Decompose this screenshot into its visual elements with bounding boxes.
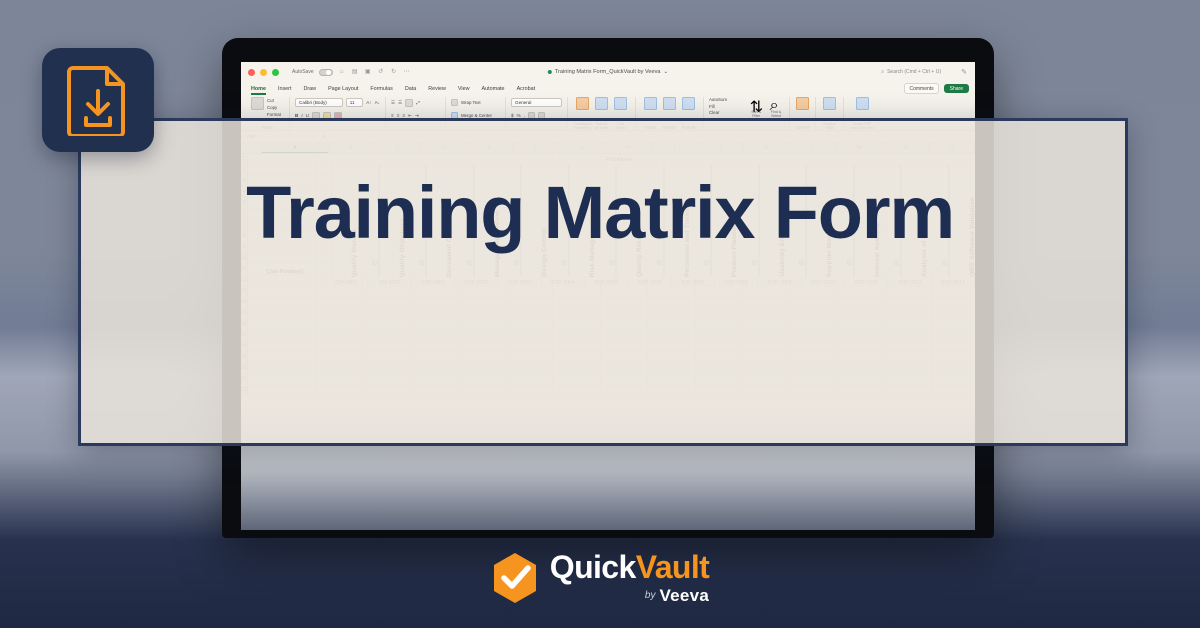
sort-filter-icon[interactable]: ⇅ (750, 97, 763, 110)
format-cells-icon[interactable] (682, 97, 695, 110)
autosave-label: AutoSave (292, 69, 314, 75)
menu-right-actions: Comments Share (904, 83, 969, 94)
excel-title-bar: AutoSave ⌂ ▤ ▣ ↺ ↻ ⋯ Training Matrix For… (241, 62, 975, 82)
tab-page-layout[interactable]: Page Layout (328, 86, 358, 92)
format-as-table-icon[interactable] (595, 97, 608, 110)
search-icon: ⌕ (881, 69, 884, 75)
tab-home[interactable]: Home (251, 86, 266, 92)
logo-word-quick: Quick (550, 549, 636, 585)
paste-icon[interactable] (251, 97, 264, 110)
print-icon[interactable]: ▣ (364, 68, 372, 76)
save-icon[interactable]: ▤ (351, 68, 359, 76)
search-placeholder: Search (Cmd + Ctrl + U) (887, 69, 941, 75)
tab-data[interactable]: Data (405, 86, 416, 92)
tab-review[interactable]: Review (428, 86, 446, 92)
copy-label[interactable]: Copy (267, 105, 281, 110)
share-button[interactable]: Share (944, 84, 969, 94)
orientation-icon[interactable]: ⤢ (416, 100, 420, 105)
headline-panel (78, 118, 1128, 446)
logo-brand-veeva: Veeva (659, 587, 709, 604)
more-icon[interactable]: ⋯ (403, 68, 411, 76)
insert-cells-icon[interactable] (644, 97, 657, 110)
decrease-font-size-icon[interactable]: A↓ (375, 100, 380, 105)
document-title: Training Matrix Form_QuickVault by Veeva… (548, 69, 668, 75)
number-format-select[interactable]: General (511, 98, 562, 107)
page-title: Training Matrix Form (0, 176, 1200, 250)
align-bottom-icon[interactable] (405, 99, 413, 107)
home-icon[interactable]: ⌂ (338, 68, 346, 76)
ribbon-display-icon[interactable]: ✎ (961, 68, 967, 76)
undo-icon[interactable]: ↺ (377, 68, 385, 76)
document-download-icon[interactable] (42, 48, 154, 152)
logo-wordmark: QuickVault by Veeva (550, 551, 709, 604)
autosave-toggle[interactable] (319, 69, 333, 76)
document-title-text: Training Matrix Form_QuickVault by Veeva (555, 69, 661, 75)
increase-font-size-icon[interactable]: A↑ (366, 100, 371, 105)
promo-banner: AutoSave ⌂ ▤ ▣ ↺ ↻ ⋯ Training Matrix For… (0, 0, 1200, 628)
wrap-text-label[interactable]: Wrap Text (461, 100, 481, 105)
logo-by-label: by (645, 591, 656, 601)
create-pdf-icon[interactable] (856, 97, 869, 110)
conditional-formatting-icon[interactable] (576, 97, 589, 110)
check-hexagon-icon (491, 552, 539, 604)
tab-formulas[interactable]: Formulas (370, 86, 392, 92)
window-close-button[interactable] (248, 69, 255, 76)
saved-status-icon (548, 70, 552, 74)
cell-styles-icon[interactable] (614, 97, 627, 110)
fill-label[interactable]: Fill (709, 104, 744, 109)
analyze-data-icon[interactable] (823, 97, 836, 110)
autosum-label[interactable]: AutoSum (709, 97, 744, 102)
format-painter-label[interactable]: Format (267, 112, 281, 117)
add-ins-icon[interactable] (796, 97, 809, 110)
tab-view[interactable]: View (458, 86, 470, 92)
comments-button[interactable]: Comments (904, 83, 938, 94)
delete-cells-icon[interactable] (663, 97, 676, 110)
align-middle-icon[interactable]: ☰ (398, 100, 402, 106)
excel-menu-bar: Home Insert Draw Page Layout Formulas Da… (241, 82, 975, 95)
window-maximize-button[interactable] (272, 69, 279, 76)
quickvault-logo: QuickVault by Veeva (0, 551, 1200, 604)
tab-insert[interactable]: Insert (278, 86, 291, 92)
font-size-select[interactable]: 11 (346, 98, 363, 107)
window-minimize-button[interactable] (260, 69, 267, 76)
search-box[interactable]: ⌕ Search (Cmd + Ctrl + U) (881, 69, 941, 75)
redo-icon[interactable]: ↻ (390, 68, 398, 76)
align-top-icon[interactable]: ☰ (391, 100, 395, 106)
clear-label[interactable]: Clear (709, 110, 744, 115)
find-select-icon[interactable]: ⌕ (770, 97, 783, 110)
tab-automate[interactable]: Automate (481, 86, 504, 92)
tab-draw[interactable]: Draw (303, 86, 316, 92)
tab-acrobat[interactable]: Acrobat (517, 86, 536, 92)
logo-word-vault: Vault (636, 549, 709, 585)
font-family-select[interactable]: Calibri (Body) (295, 98, 343, 107)
wrap-text-icon[interactable] (451, 99, 458, 106)
cut-label[interactable]: Cut (267, 98, 281, 103)
title-caret-icon[interactable]: ⌄ (664, 69, 669, 75)
